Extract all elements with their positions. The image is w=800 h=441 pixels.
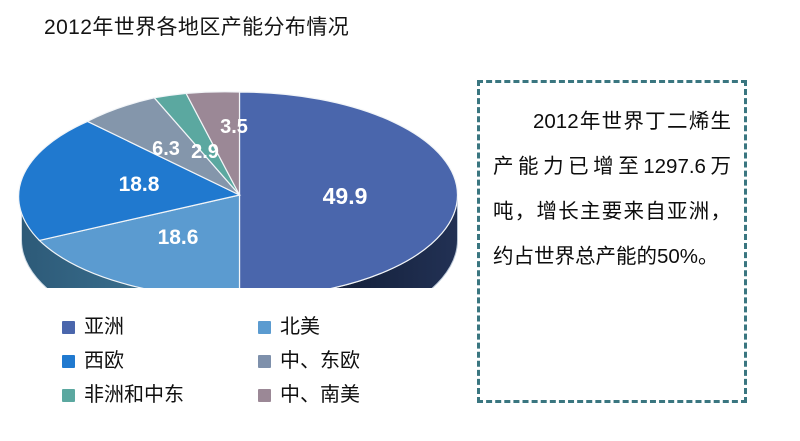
pie-label-central-east-europe: 6.3 (152, 138, 180, 160)
slide-canvas: 2012年世界各地区产能分布情况 (0, 0, 800, 441)
callout-textbox: 2012年世界丁二烯生产能力已增至1297.6万吨，增长主要来自亚洲，约占世界总… (477, 80, 747, 403)
legend-swatch-icon (258, 355, 271, 368)
legend-swatch-icon (62, 355, 75, 368)
legend-item-north-america[interactable]: 北美 (258, 315, 432, 339)
legend-item-label: 亚洲 (84, 315, 124, 339)
legend-swatch-icon (258, 389, 271, 402)
pie-label-central-south-america: 3.5 (220, 116, 248, 138)
chart-legend: 亚洲 北美 西欧 中、东欧 非洲和中东 中、南美 (62, 310, 432, 412)
pie-chart: 49.9 18.6 18.8 6.3 2.9 3.5 (0, 48, 462, 288)
legend-item-label: 西欧 (84, 349, 124, 373)
legend-item-label: 中、南美 (280, 383, 360, 407)
legend-swatch-icon (62, 389, 75, 402)
legend-item-africa-middle-east[interactable]: 非洲和中东 (62, 383, 258, 407)
legend-item-label: 非洲和中东 (84, 383, 184, 407)
legend-item-label: 中、东欧 (280, 349, 360, 373)
legend-item-central-east-europe[interactable]: 中、东欧 (258, 349, 432, 373)
callout-text: 2012年世界丁二烯生产能力已增至1297.6万吨，增长主要来自亚洲，约占世界总… (493, 99, 731, 279)
legend-item-asia[interactable]: 亚洲 (62, 315, 258, 339)
page-title: 2012年世界各地区产能分布情况 (44, 14, 349, 42)
pie-label-africa-middle-east: 2.9 (191, 141, 219, 163)
pie-label-asia: 49.9 (323, 183, 368, 209)
pie-label-north-america: 18.6 (158, 226, 199, 249)
legend-item-label: 北美 (280, 315, 320, 339)
legend-item-central-south-america[interactable]: 中、南美 (258, 383, 432, 407)
legend-swatch-icon (258, 321, 271, 334)
pie-chart-svg: 49.9 18.6 18.8 6.3 2.9 3.5 (0, 48, 462, 288)
pie-label-west-europe: 18.8 (119, 173, 160, 196)
legend-item-west-europe[interactable]: 西欧 (62, 349, 258, 373)
legend-swatch-icon (62, 321, 75, 334)
